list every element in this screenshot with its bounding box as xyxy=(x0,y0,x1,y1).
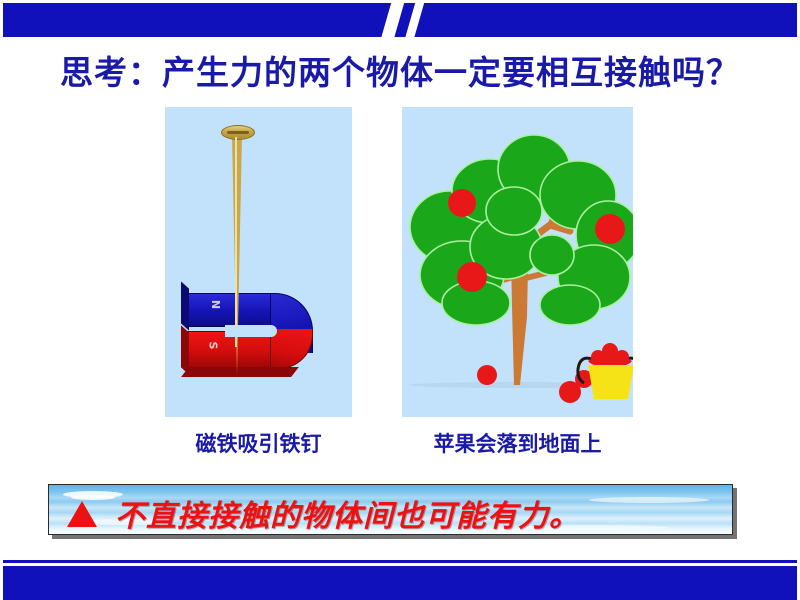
apple-tree-illustration xyxy=(402,107,633,417)
nail-shaft-icon xyxy=(232,135,242,375)
cloud-decoration-icon xyxy=(589,497,709,503)
horseshoe-magnet-icon: N S xyxy=(181,285,331,387)
magnet-label-north: N xyxy=(209,300,222,309)
magnet-north-arm xyxy=(185,293,271,327)
footer-divider-line xyxy=(3,560,797,563)
cloud-decoration-icon xyxy=(71,495,115,500)
figure-apple-tree xyxy=(402,107,633,417)
nail-head-icon xyxy=(221,125,255,140)
magnet-inner-notch xyxy=(225,325,277,337)
magnet-side-face-north xyxy=(181,281,189,330)
nail-highlight xyxy=(235,137,237,347)
conclusion-banner: 不直接接触的物体间也可能有力。 xyxy=(48,484,733,535)
figure-magnet-nail: N S xyxy=(165,107,352,417)
footer-banner xyxy=(3,566,797,600)
top-banner xyxy=(3,3,797,37)
slash-decoration-icon xyxy=(379,3,407,37)
triangle-bullet-icon xyxy=(67,501,97,527)
caption-apple-tree: 苹果会落到地面上 xyxy=(402,428,633,458)
magnet-label-south: S xyxy=(206,342,219,350)
slash-decoration-icon xyxy=(403,3,427,37)
caption-magnet-nail: 磁铁吸引铁钉 xyxy=(165,428,352,458)
conclusion-text: 不直接接触的物体间也可能有力。 xyxy=(115,491,580,535)
slide-canvas: 思考：产生力的两个物体一定要相互接触吗？ N S xyxy=(0,0,800,600)
page-title: 思考：产生力的两个物体一定要相互接触吗？ xyxy=(0,46,800,94)
